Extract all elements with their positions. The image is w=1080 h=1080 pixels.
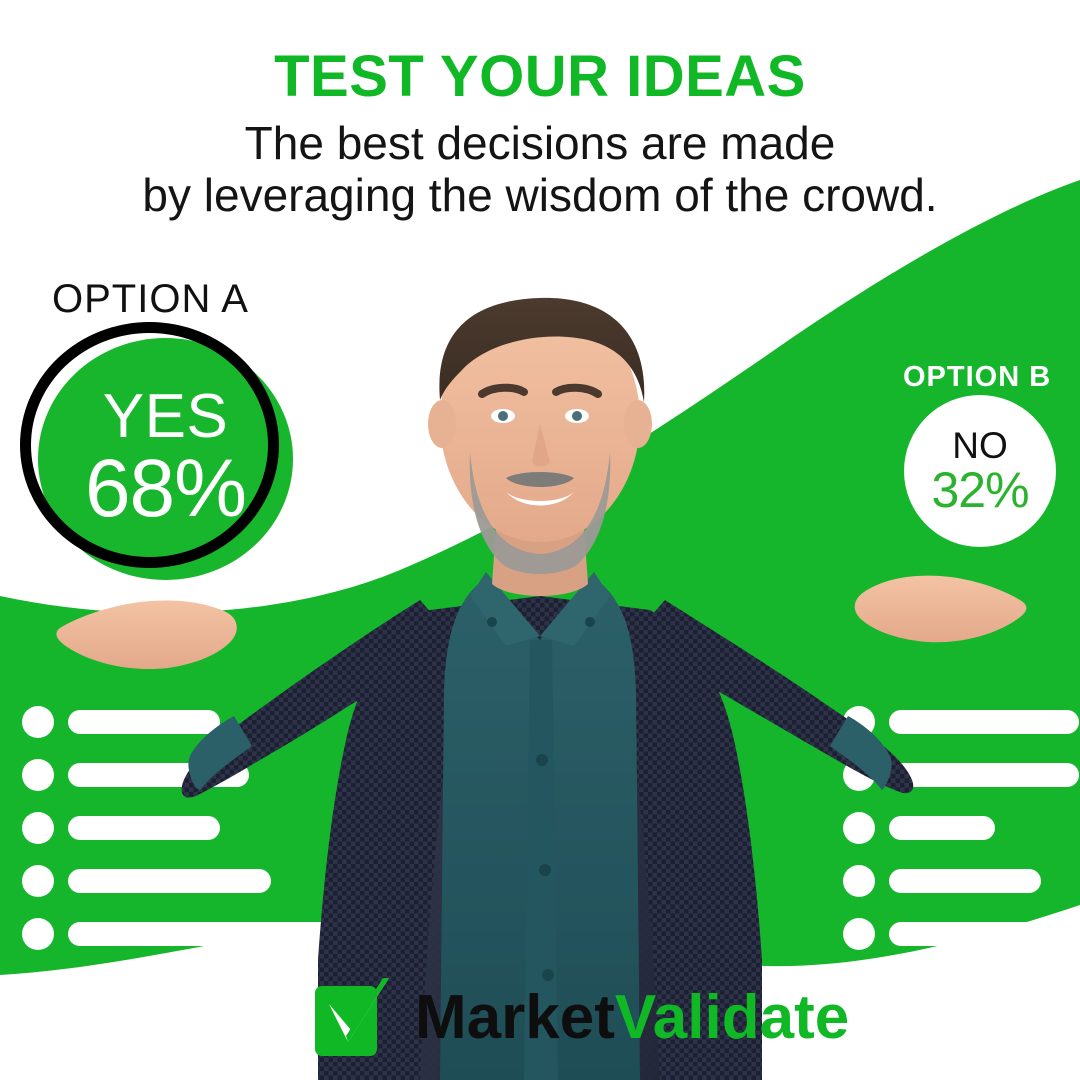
option-a-answer: YES — [103, 388, 229, 447]
checkmark-icon — [313, 978, 391, 1058]
headline-block: TEST YOUR IDEAS The best decisions are m… — [0, 48, 1080, 222]
brand-word-validate: Validate — [615, 983, 849, 1052]
left-palm — [56, 600, 236, 669]
subtitle-line-2: by leveraging the wisdom of the crowd. — [0, 170, 1080, 222]
brand-wordmark: MarketValidate — [415, 987, 849, 1049]
poster-canvas: TEST YOUR IDEAS The best decisions are m… — [0, 0, 1080, 1080]
page-subtitle: The best decisions are made by leveragin… — [0, 118, 1080, 222]
pupil-right — [572, 411, 582, 421]
ear-left — [428, 400, 456, 448]
option-a-badge[interactable]: YES 68% — [20, 322, 295, 582]
option-b-answer: NO — [952, 427, 1008, 464]
subtitle-line-1: The best decisions are made — [0, 118, 1080, 170]
option-a-percent: 68% — [85, 449, 246, 529]
collar-button — [487, 617, 497, 627]
pupil-left — [498, 411, 508, 421]
ear-right — [624, 400, 652, 448]
option-a-text: YES 68% — [38, 338, 293, 580]
option-b-badge[interactable]: NO 32% — [904, 395, 1056, 547]
brand-word-market: Market — [415, 983, 615, 1052]
shirt-button — [539, 864, 551, 876]
collar-button — [585, 617, 595, 627]
page-title: TEST YOUR IDEAS — [0, 48, 1080, 106]
shirt-button — [536, 754, 548, 766]
option-b-percent: 32% — [931, 465, 1028, 515]
right-palm — [855, 576, 1027, 643]
option-b-label: OPTION B — [903, 361, 1051, 394]
option-a-label: OPTION A — [52, 277, 249, 322]
brand-logo[interactable]: MarketValidate — [313, 965, 783, 1070]
